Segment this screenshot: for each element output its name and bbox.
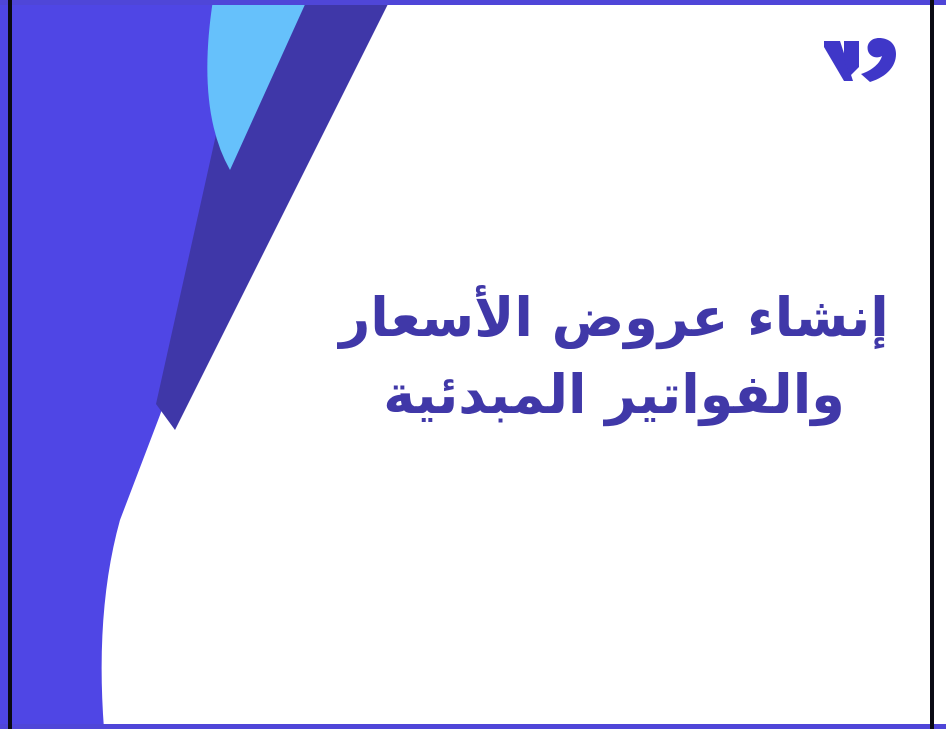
frame-bottom-border (0, 724, 946, 729)
headline: إنشاء عروض الأسعار والفواتير المبدئية (334, 280, 894, 433)
headline-line-1: إنشاء عروض الأسعار (334, 280, 894, 357)
headline-line-2: والفواتير المبدئية (334, 357, 894, 434)
frame-left-fill (0, 0, 8, 729)
frame-right-rule (930, 0, 934, 729)
frame-top-border (0, 0, 946, 5)
title-slide: إنشاء عروض الأسعار والفواتير المبدئية (0, 0, 946, 729)
frame-left-rule (8, 0, 12, 729)
frame-right-fill (934, 0, 946, 729)
wafeq-logo-glyph (820, 30, 898, 92)
wafeq-logo-icon (820, 30, 898, 92)
